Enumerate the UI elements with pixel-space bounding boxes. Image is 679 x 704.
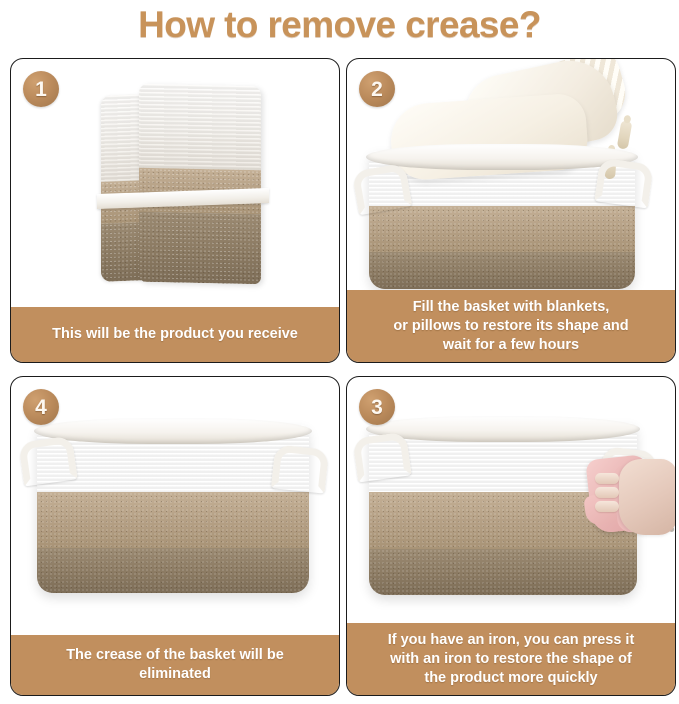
basket-tan-band	[37, 492, 309, 547]
basket-handle-right	[271, 444, 329, 493]
step-card-1[interactable]: 1 This will be the product you receive	[10, 58, 340, 363]
step-badge-3: 3	[359, 389, 395, 425]
caption-line: or pillows to restore its shape and	[393, 317, 628, 336]
caption-line: If you have an iron, you can press it	[388, 631, 635, 650]
steps-grid: 1 This will be the product you receive	[10, 58, 669, 698]
basket-brown-band	[369, 549, 637, 595]
caption-line: eliminated	[66, 665, 284, 684]
finger	[595, 501, 619, 512]
step-caption-3: If you have an iron, you can press it wi…	[347, 623, 675, 695]
step-card-4[interactable]: 4 The crease of the basket will be elimi…	[10, 376, 340, 696]
rope-basket-art	[37, 425, 309, 593]
folded-basket-front-fold	[139, 84, 261, 285]
basket-tan-band	[369, 206, 635, 252]
fold-front-white-band	[139, 84, 261, 171]
caption-line: Fill the basket with blankets,	[393, 298, 628, 317]
caption-line: the product more quickly	[388, 669, 635, 688]
basket-brown-band	[369, 252, 635, 289]
caption-line: The crease of the basket will be	[66, 646, 284, 665]
step-badge-2: 2	[359, 71, 395, 107]
step-badge-4: 4	[23, 389, 59, 425]
caption-line: wait for a few hours	[393, 336, 628, 355]
basket-handle-right	[594, 157, 654, 208]
basket-rim	[34, 418, 311, 444]
step-caption-2: Fill the basket with blankets, or pillow…	[347, 290, 675, 362]
step-caption-4: The crease of the basket will be elimina…	[11, 635, 339, 695]
step-caption-1: This will be the product you receive	[11, 307, 339, 362]
caption-line: with an iron to restore the shape of	[388, 650, 635, 669]
step-card-3[interactable]: 3	[346, 376, 676, 696]
finger	[595, 473, 619, 484]
basket-body	[37, 425, 309, 593]
basket-rim	[366, 144, 637, 170]
finger	[595, 487, 619, 498]
basket-rim	[366, 416, 639, 442]
page-title: How to remove crease?	[0, 4, 679, 46]
garment-steamer-icon	[589, 449, 675, 541]
basket-handle-left	[352, 431, 412, 482]
step-badge-1: 1	[23, 71, 59, 107]
hand	[619, 459, 675, 535]
basket-handle-left	[352, 163, 413, 216]
basket-handle-left	[18, 435, 78, 486]
fold-front-brown-band	[139, 212, 261, 285]
tassel-icon	[617, 120, 633, 149]
step-card-2[interactable]: 2 Fill the basket with blankets,	[346, 58, 676, 363]
folded-basket-art	[101, 85, 261, 285]
basket-brown-band	[37, 548, 309, 593]
caption-line: This will be the product you receive	[52, 325, 298, 344]
